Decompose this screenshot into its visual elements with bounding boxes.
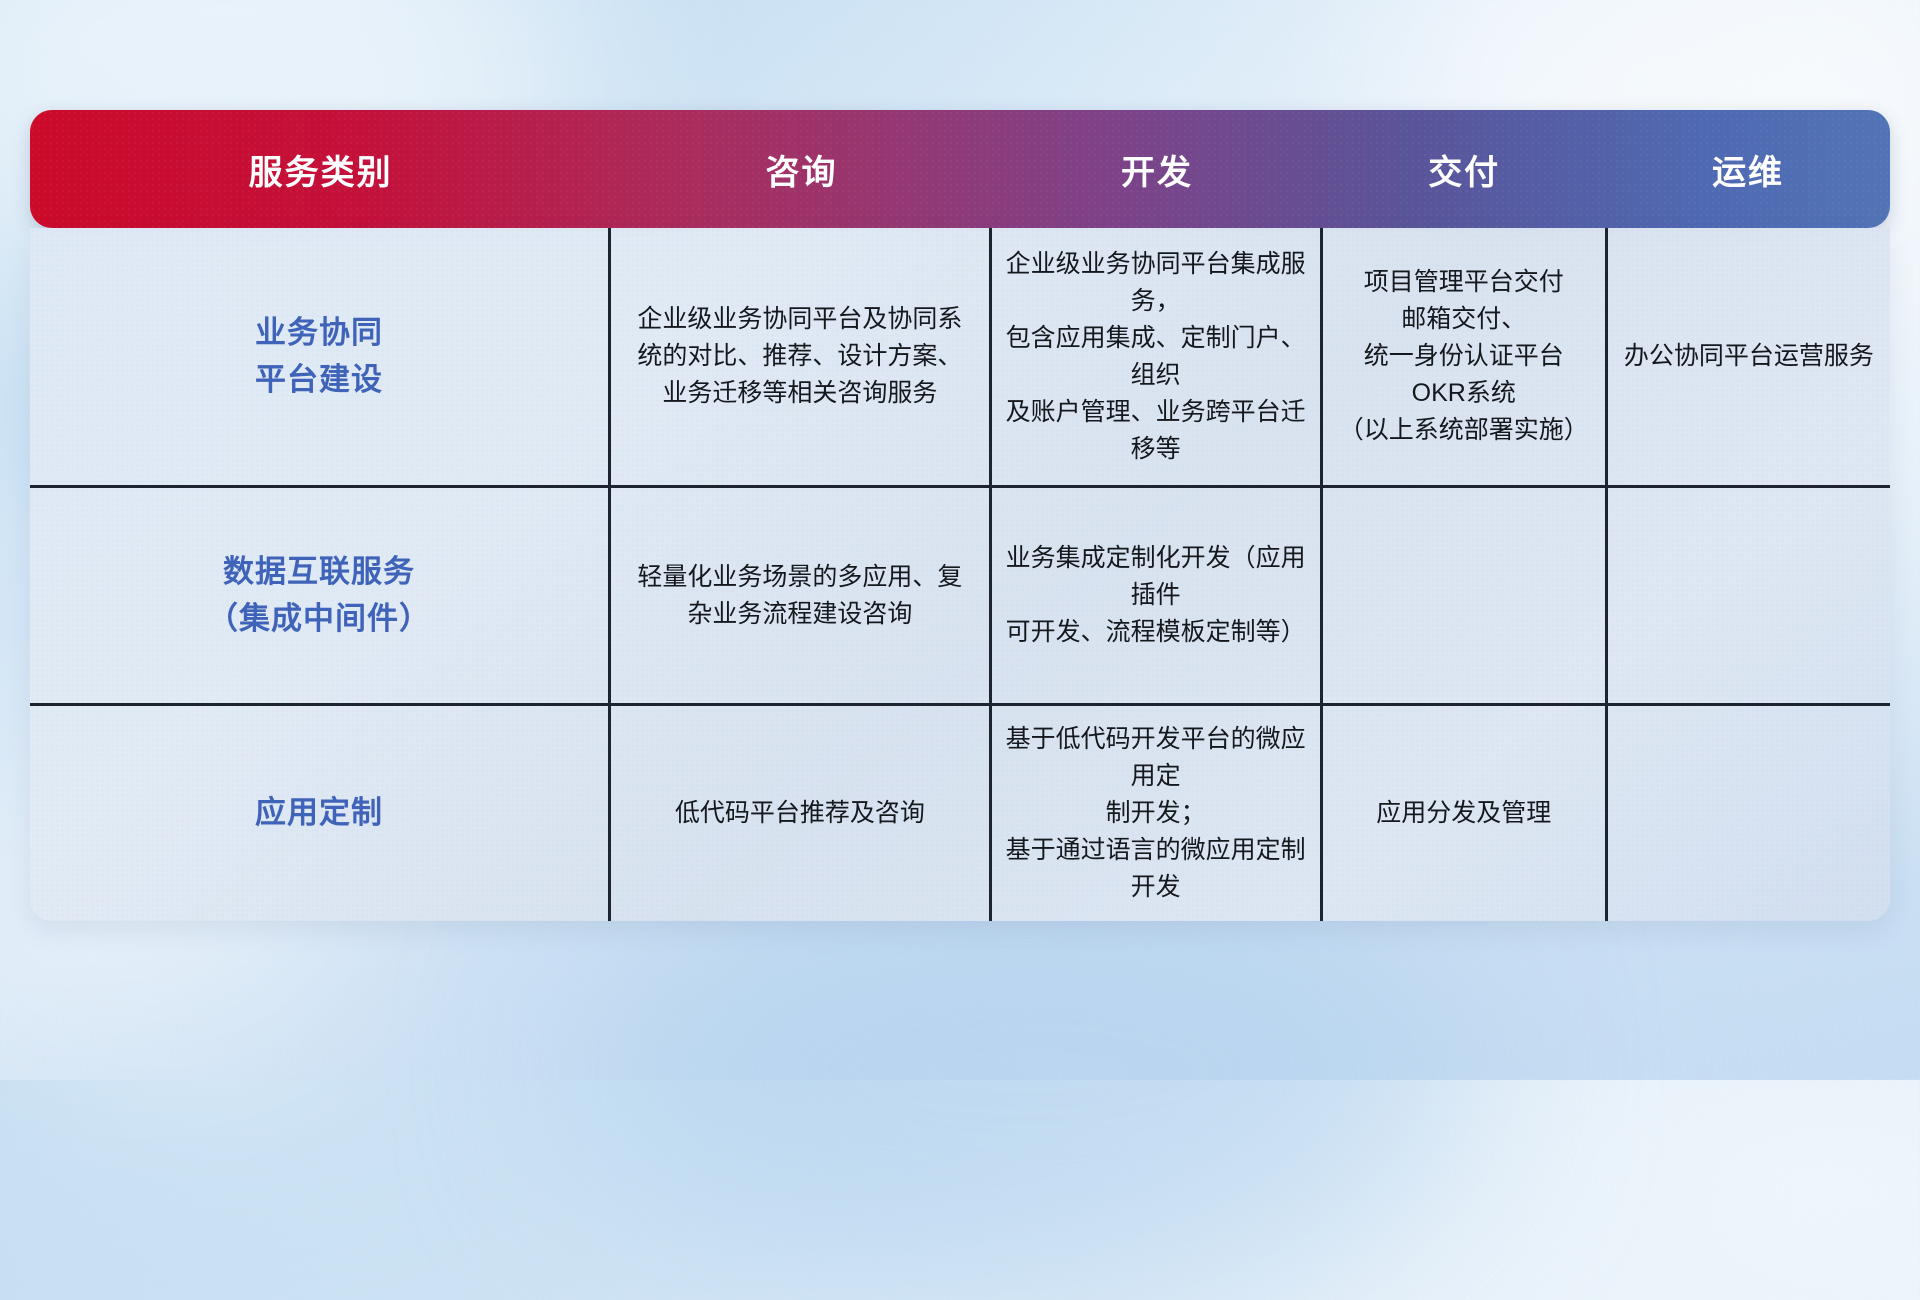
row-category-label: 应用定制 xyxy=(30,706,608,921)
header-consulting: 咨询 xyxy=(611,110,991,228)
cell-development: 企业级业务协同平台集成服务， 包含应用集成、定制门户、组织 及账户管理、业务跨平… xyxy=(989,228,1320,485)
cell-consulting: 轻量化业务场景的多应用、复 杂业务流程建设咨询 xyxy=(608,488,988,703)
cell-consulting: 低代码平台推荐及咨询 xyxy=(608,706,988,921)
row-category-label: 数据互联服务 （集成中间件） xyxy=(30,488,608,703)
row-category-label: 业务协同 平台建设 xyxy=(30,228,608,485)
table-row: 业务协同 平台建设 企业级业务协同平台及协同系 统的对比、推荐、设计方案、 业务… xyxy=(30,228,1890,485)
cell-development: 业务集成定制化开发（应用插件 可开发、流程模板定制等） xyxy=(989,488,1320,703)
cell-delivery: 项目管理平台交付 邮箱交付、 统一身份认证平台 OKR系统 （以上系统部署实施） xyxy=(1320,228,1605,485)
service-matrix-table: 服务类别 咨询 开发 交付 运维 业务协同 平台建设 企业级业务协同平台及协同系… xyxy=(30,110,1890,921)
table-row: 数据互联服务 （集成中间件） 轻量化业务场景的多应用、复 杂业务流程建设咨询 业… xyxy=(30,485,1890,703)
cell-delivery: 应用分发及管理 xyxy=(1320,706,1605,921)
header-delivery: 交付 xyxy=(1322,110,1606,228)
cell-delivery xyxy=(1320,488,1605,703)
table-header-row: 服务类别 咨询 开发 交付 运维 xyxy=(30,110,1890,228)
header-operations: 运维 xyxy=(1606,110,1890,228)
header-service-category: 服务类别 xyxy=(30,110,611,228)
table-row: 应用定制 低代码平台推荐及咨询 基于低代码开发平台的微应用定 制开发； 基于通过… xyxy=(30,703,1890,921)
header-development: 开发 xyxy=(992,110,1322,228)
table-body: 业务协同 平台建设 企业级业务协同平台及协同系 统的对比、推荐、设计方案、 业务… xyxy=(30,228,1890,921)
cell-operations xyxy=(1605,488,1890,703)
cell-operations: 办公协同平台运营服务 xyxy=(1605,228,1890,485)
cell-development: 基于低代码开发平台的微应用定 制开发； 基于通过语言的微应用定制开发 xyxy=(989,706,1320,921)
cell-operations xyxy=(1605,706,1890,921)
cell-consulting: 企业级业务协同平台及协同系 统的对比、推荐、设计方案、 业务迁移等相关咨询服务 xyxy=(608,228,988,485)
